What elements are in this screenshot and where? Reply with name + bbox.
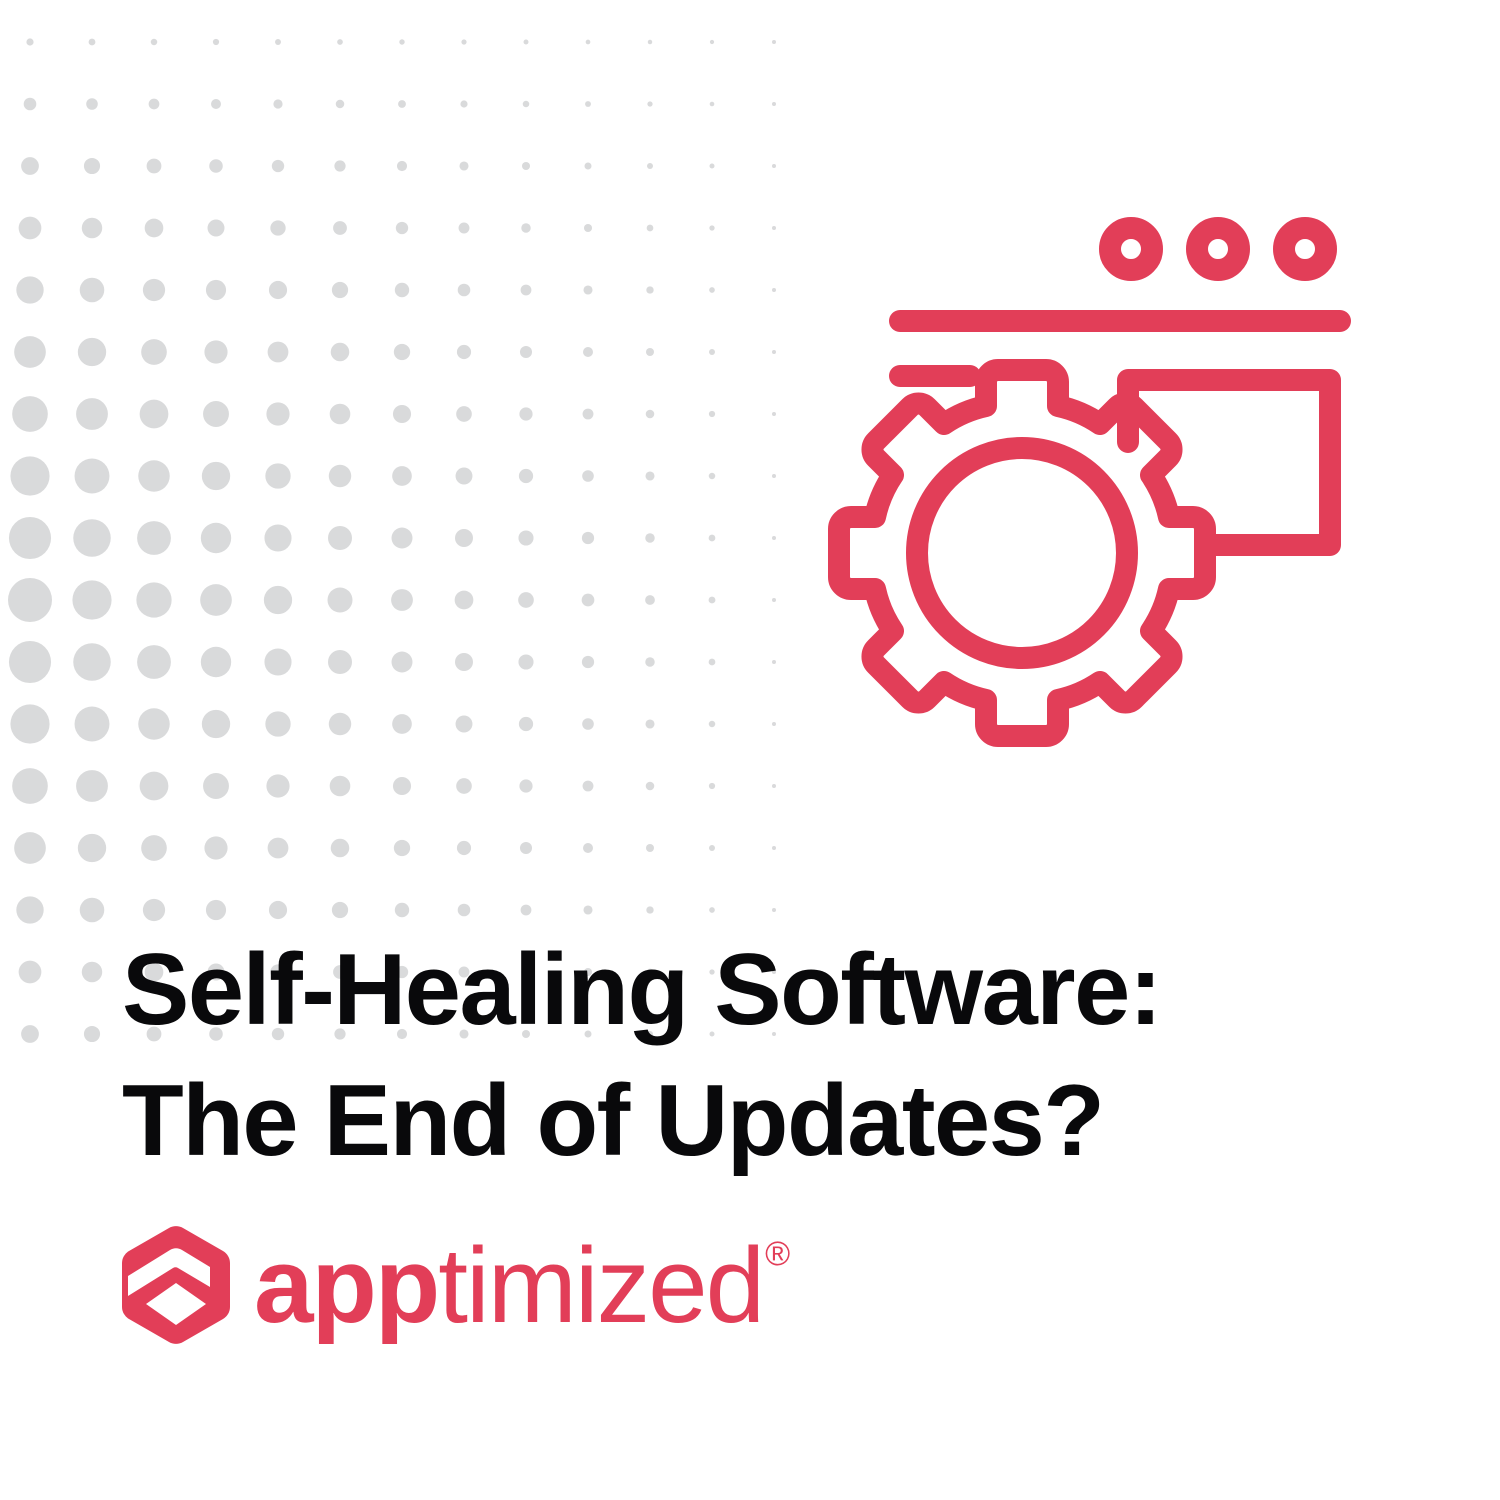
grid-dot	[646, 844, 654, 852]
grid-dot	[141, 835, 167, 861]
grid-dot	[334, 160, 345, 171]
grid-dot	[75, 707, 110, 742]
grid-dot	[269, 281, 287, 299]
grid-dot	[518, 654, 533, 669]
grid-dot	[209, 159, 223, 173]
grid-dot	[268, 838, 289, 859]
grid-dot	[710, 40, 714, 44]
grid-dot	[269, 901, 287, 919]
grid-dot	[394, 344, 410, 360]
grid-dot	[330, 776, 351, 797]
grid-dot	[394, 840, 410, 856]
grid-dot	[458, 284, 471, 297]
grid-dot	[647, 163, 653, 169]
grid-dot	[709, 597, 716, 604]
grid-dot	[645, 719, 654, 728]
grid-dot	[710, 102, 715, 107]
grid-dot	[399, 39, 404, 44]
grid-dot	[73, 643, 111, 681]
window-dot-3-icon	[1284, 228, 1326, 270]
grid-dot	[397, 161, 407, 171]
grid-dot	[266, 402, 289, 425]
grid-dot	[519, 779, 532, 792]
grid-dot	[521, 905, 532, 916]
grid-dot	[16, 896, 43, 923]
registered-trademark-icon: ®	[765, 1237, 790, 1271]
grid-dot	[211, 99, 221, 109]
grid-dot	[147, 159, 162, 174]
grid-dot	[582, 718, 594, 730]
grid-dot	[337, 39, 343, 45]
grid-dot	[709, 845, 715, 851]
poster-canvas: Self-Healing Software: The End of Update…	[0, 0, 1500, 1500]
grid-dot	[709, 287, 715, 293]
grid-dot	[518, 530, 533, 545]
grid-dot	[393, 777, 411, 795]
grid-dot	[456, 716, 473, 733]
grid-dot	[520, 842, 532, 854]
grid-dot	[275, 39, 281, 45]
grid-dot	[456, 778, 472, 794]
grid-dot	[455, 591, 474, 610]
grid-dot	[395, 283, 409, 297]
brand-logo: app timized ®	[120, 1222, 790, 1347]
grid-dot	[8, 578, 52, 622]
grid-dot	[75, 459, 110, 494]
grid-dot	[524, 40, 529, 45]
grid-dot	[392, 528, 413, 549]
grid-dot	[19, 217, 42, 240]
grid-dot	[461, 39, 466, 44]
grid-dot	[200, 584, 232, 616]
grid-dot	[72, 580, 111, 619]
grid-dot	[391, 589, 413, 611]
grid-dot	[459, 223, 470, 234]
grid-dot	[14, 832, 46, 864]
grid-dot	[582, 532, 594, 544]
grid-dot	[331, 343, 350, 362]
window-dot-1-icon	[1110, 228, 1152, 270]
grid-dot	[12, 396, 48, 432]
grid-dot	[141, 339, 167, 365]
grid-dot	[710, 164, 715, 169]
grid-dot	[206, 280, 226, 300]
grid-dot	[772, 908, 776, 912]
window-dot-2-icon	[1197, 228, 1239, 270]
brand-name-light: timized	[438, 1225, 763, 1345]
grid-dot	[457, 841, 471, 855]
grid-dot	[201, 523, 231, 553]
grid-dot	[206, 900, 226, 920]
grid-dot	[202, 710, 230, 738]
grid-dot	[585, 163, 592, 170]
grid-dot	[398, 100, 406, 108]
grid-dot	[646, 286, 653, 293]
grid-dot	[460, 100, 467, 107]
grid-dot	[519, 717, 533, 731]
grid-dot	[26, 38, 33, 45]
grid-dot	[455, 653, 473, 671]
grid-dot	[584, 224, 592, 232]
grid-dot	[709, 411, 715, 417]
grid-dot	[78, 338, 106, 366]
grid-dot	[583, 285, 592, 294]
grid-dot	[646, 348, 654, 356]
grid-dot	[586, 40, 591, 45]
page-title: Self-Healing Software: The End of Update…	[122, 925, 1372, 1187]
grid-dot	[709, 349, 715, 355]
grid-dot	[89, 39, 96, 46]
grid-dot	[709, 721, 716, 728]
grid-dot	[455, 529, 473, 547]
grid-dot	[393, 405, 411, 423]
grid-dot	[648, 40, 652, 44]
grid-dot	[333, 221, 347, 235]
grid-dot	[143, 279, 165, 301]
grid-dot	[330, 404, 351, 425]
grid-dot	[140, 400, 169, 429]
grid-dot	[80, 278, 105, 303]
grid-dot	[646, 782, 655, 791]
grid-dot	[647, 225, 654, 232]
brand-name-strong: app	[254, 1225, 438, 1345]
grid-dot	[16, 276, 43, 303]
grid-dot	[709, 473, 716, 480]
grid-dot	[582, 470, 594, 482]
grid-dot	[709, 659, 716, 666]
dot-grid-group	[8, 38, 776, 1042]
grid-dot	[76, 770, 108, 802]
grid-dot	[73, 519, 111, 557]
grid-dot	[208, 220, 225, 237]
grid-dot	[709, 535, 716, 542]
grid-dot	[204, 836, 227, 859]
grid-dot	[336, 100, 345, 109]
grid-dot	[332, 282, 348, 298]
grid-dot	[522, 162, 530, 170]
grid-dot	[523, 101, 530, 108]
gear-hub-icon	[917, 448, 1127, 658]
grid-dot	[392, 714, 412, 734]
apptimized-hexagon-logo-icon	[120, 1225, 232, 1345]
grid-dot	[10, 704, 49, 743]
grid-dot	[76, 398, 108, 430]
grid-dot	[268, 342, 289, 363]
grid-dot	[14, 336, 46, 368]
grid-dot	[328, 526, 352, 550]
grid-dot	[9, 641, 51, 683]
grid-dot	[203, 401, 229, 427]
grid-dot	[264, 586, 292, 614]
grid-dot	[272, 160, 284, 172]
grid-dot	[582, 656, 594, 668]
grid-dot	[266, 774, 289, 797]
grid-dot	[585, 101, 591, 107]
grid-dot	[395, 903, 409, 917]
grid-dot	[213, 39, 219, 45]
headline-line-1: Self-Healing Software:	[122, 925, 1372, 1056]
grid-dot	[647, 101, 652, 106]
grid-dot	[21, 157, 39, 175]
grid-dot	[9, 517, 51, 559]
grid-dot	[521, 285, 532, 296]
grid-dot	[138, 708, 170, 740]
grid-dot	[396, 222, 408, 234]
grid-dot	[392, 466, 412, 486]
grid-dot	[583, 843, 593, 853]
grid-dot	[709, 783, 715, 789]
grid-dot	[202, 462, 230, 490]
grid-dot	[82, 962, 102, 982]
grid-dot	[265, 463, 290, 488]
grid-dot	[138, 460, 170, 492]
grid-dot	[204, 340, 227, 363]
grid-dot	[86, 98, 98, 110]
grid-dot	[392, 652, 413, 673]
grid-dot	[264, 648, 291, 675]
grid-dot	[201, 647, 231, 677]
grid-dot	[145, 219, 164, 238]
grid-dot	[84, 158, 100, 174]
grid-dot	[645, 471, 654, 480]
self-healing-software-illustration	[770, 190, 1390, 840]
grid-dot	[459, 161, 468, 170]
grid-dot	[772, 102, 776, 106]
grid-dot	[583, 347, 593, 357]
grid-dot	[136, 582, 171, 617]
grid-dot	[203, 773, 229, 799]
grid-dot	[456, 406, 472, 422]
grid-dot	[520, 346, 532, 358]
grid-dot	[265, 711, 290, 736]
grid-dot	[518, 592, 534, 608]
grid-dot	[583, 409, 594, 420]
grid-dot	[137, 645, 171, 679]
brand-wordmark: app timized ®	[254, 1225, 790, 1345]
grid-dot	[21, 1025, 39, 1043]
grid-dot	[12, 768, 48, 804]
grid-dot	[772, 164, 776, 168]
grid-dot	[458, 904, 471, 917]
grid-dot	[329, 713, 351, 735]
grid-dot	[24, 98, 37, 111]
grid-dot	[645, 595, 655, 605]
grid-dot	[709, 907, 715, 913]
grid-dot	[519, 407, 532, 420]
grid-dot	[332, 902, 348, 918]
grid-dot	[19, 961, 42, 984]
grid-dot	[331, 839, 350, 858]
grid-dot	[140, 772, 169, 801]
grid-dot	[456, 468, 473, 485]
grid-dot	[582, 594, 595, 607]
grid-dot	[772, 846, 776, 850]
grid-dot	[149, 99, 160, 110]
grid-dot	[645, 657, 654, 666]
grid-dot	[270, 220, 285, 235]
grid-dot	[137, 521, 171, 555]
grid-dot	[80, 898, 105, 923]
grid-dot	[519, 469, 533, 483]
grid-dot	[264, 524, 291, 551]
grid-dot	[10, 456, 49, 495]
grid-dot	[583, 905, 592, 914]
grid-dot	[772, 40, 776, 44]
gear-icon	[839, 370, 1205, 736]
grid-dot	[328, 650, 352, 674]
grid-dot	[709, 225, 714, 230]
grid-dot	[151, 39, 158, 46]
grid-dot	[84, 1026, 100, 1042]
grid-dot	[82, 218, 102, 238]
grid-dot	[583, 781, 594, 792]
grid-dot	[646, 906, 653, 913]
grid-dot	[645, 533, 654, 542]
grid-dot	[329, 465, 351, 487]
grid-dot	[78, 834, 106, 862]
headline-line-2: The End of Updates?	[122, 1056, 1372, 1187]
grid-dot	[521, 223, 530, 232]
grid-dot	[143, 899, 165, 921]
grid-dot	[457, 345, 471, 359]
grid-dot	[328, 588, 353, 613]
grid-dot	[273, 99, 282, 108]
grid-dot	[646, 410, 655, 419]
